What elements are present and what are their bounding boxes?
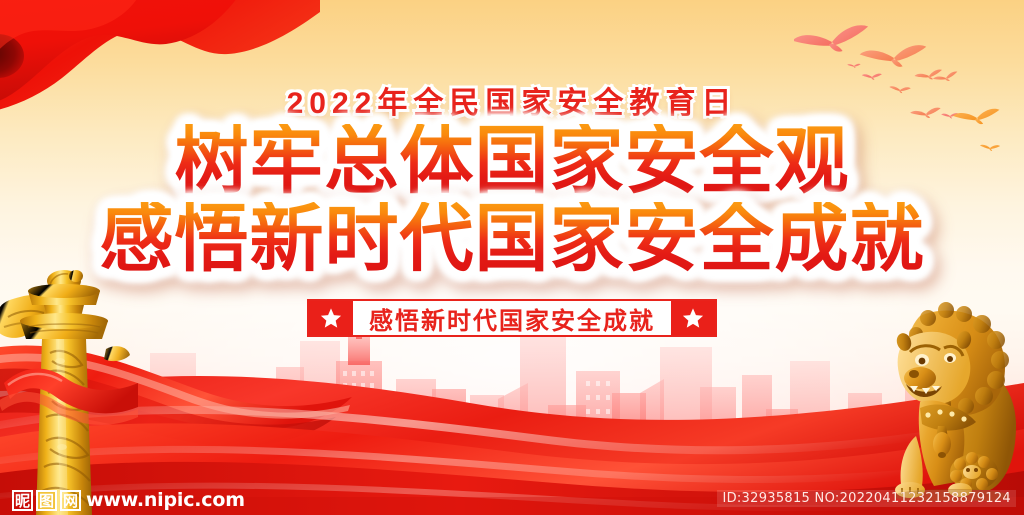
headline-line-1-text: 树牢总体国家安全观 xyxy=(175,124,850,198)
headline-line-2-text: 感悟新时代国家安全成就 xyxy=(100,202,925,276)
nipic-logo-chars: 昵 图 网 xyxy=(12,490,81,511)
badge-star-left xyxy=(309,301,353,335)
watermark-id-text: ID:32935815 NO:20220411232158879124 xyxy=(717,490,1016,507)
logo-char-3: 网 xyxy=(60,490,81,511)
badge-star-right xyxy=(671,301,715,335)
five-point-star-icon xyxy=(682,307,704,329)
golden-huabiao-pillar xyxy=(0,265,138,515)
headline-line-1: 树牢总体国家安全观 xyxy=(0,124,1024,198)
logo-char-1: 昵 xyxy=(12,490,33,511)
nipic-url[interactable]: www.nipic.com xyxy=(86,489,245,511)
golden-guardian-lion xyxy=(864,286,1024,501)
five-point-star-icon xyxy=(320,307,342,329)
headline-line-2: 感悟新时代国家安全成就 xyxy=(0,202,1024,276)
poster-subtitle: 2022年全民国家安全教育日 xyxy=(0,78,1024,122)
poster-canvas: 2022年全民国家安全教育日 树牢总体国家安全观 感悟新时代国家安全成就 感悟新… xyxy=(0,0,1024,515)
badge-label: 感悟新时代国家安全成就 xyxy=(353,301,671,335)
nipic-logo[interactable]: 昵 图 网 www.nipic.com xyxy=(12,489,245,511)
slogan-badge: 感悟新时代国家安全成就 xyxy=(307,299,717,337)
logo-char-2: 图 xyxy=(36,490,57,511)
